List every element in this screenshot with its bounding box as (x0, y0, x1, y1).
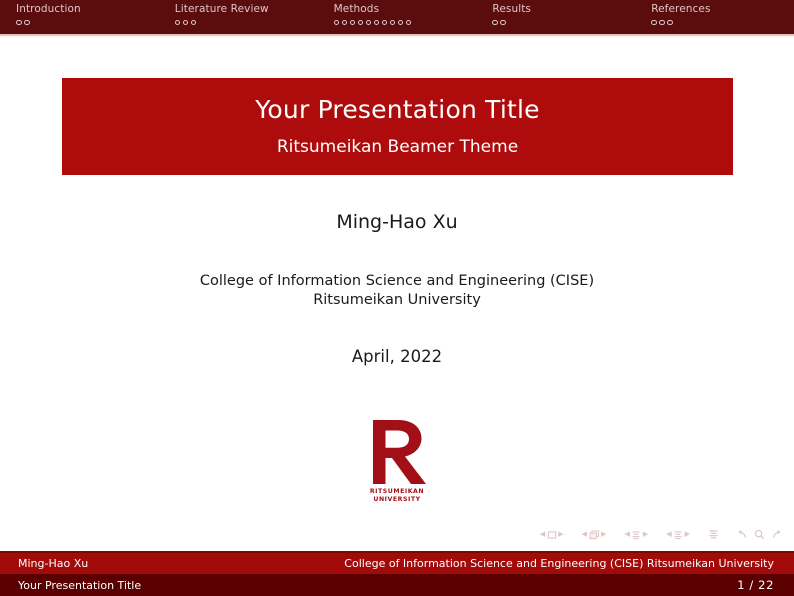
nav-slide-dot[interactable] (651, 20, 657, 26)
nav-section-methods[interactable]: Methods (318, 0, 477, 25)
nav-slide-dot[interactable] (492, 20, 498, 26)
prev-slide-arrow-icon[interactable]: ◀ (540, 531, 545, 538)
nav-section-introduction[interactable]: Introduction (0, 0, 159, 25)
nav-slide-dot[interactable] (191, 20, 197, 26)
footer-institute: College of Information Science and Engin… (344, 557, 774, 570)
slide-icon[interactable] (547, 530, 557, 540)
frame-icon[interactable] (589, 530, 600, 540)
nav-slide-dot[interactable] (358, 20, 364, 26)
nav-section-label[interactable]: Literature Review (175, 4, 318, 15)
logo-text-line-2: UNIVERSITY (370, 496, 424, 504)
nav-slide-dot[interactable] (398, 20, 404, 26)
presentation-date: April, 2022 (0, 347, 794, 366)
nav-section-label[interactable]: Methods (334, 4, 477, 15)
prev-frame-arrow-icon[interactable]: ◀ (582, 531, 587, 538)
nav-slide-dot[interactable] (175, 20, 181, 26)
next-frame-arrow-icon[interactable]: ▶ (601, 531, 606, 538)
presentation-subtitle: Ritsumeikan Beamer Theme (277, 137, 518, 157)
nav-section-literature-review[interactable]: Literature Review (159, 0, 318, 25)
nav-slide-dot[interactable] (406, 20, 412, 26)
footer-author: Ming-Hao Xu (18, 557, 88, 570)
next-subsection-arrow-icon[interactable]: ▶ (643, 531, 648, 538)
logo-text-line-1: RITSUMEIKAN (370, 488, 424, 496)
nav-section-dots-references (651, 20, 794, 26)
logo-text-block: RITSUMEIKAN UNIVERSITY (370, 488, 424, 505)
author-name: Ming-Hao Xu (0, 211, 794, 234)
next-slide-arrow-icon[interactable]: ▶ (558, 531, 563, 538)
section-icon[interactable] (673, 530, 683, 540)
nav-section-label[interactable]: Introduction (16, 4, 159, 15)
footer-title: Your Presentation Title (18, 579, 141, 592)
nav-slide-dot[interactable] (24, 20, 30, 26)
institute-line-2: Ritsumeikan University (0, 291, 794, 311)
table-of-contents-icon[interactable] (708, 529, 719, 540)
nav-slide-dot[interactable] (16, 20, 22, 26)
nav-slide-dot[interactable] (183, 20, 189, 26)
back-icon[interactable] (737, 529, 747, 540)
prev-subsection-arrow-icon[interactable]: ◀ (624, 531, 629, 538)
nav-slide-dot[interactable] (500, 20, 506, 26)
nav-section-dots-literature-review (175, 20, 318, 26)
title-page-content: Ming-Hao Xu College of Information Scien… (0, 175, 794, 366)
slide-navigation-group[interactable]: ◀ ▶ (540, 530, 564, 540)
next-section-arrow-icon[interactable]: ▶ (685, 531, 690, 538)
nav-slide-dot[interactable] (390, 20, 396, 26)
nav-slide-dot[interactable] (374, 20, 380, 26)
nav-slide-dot[interactable] (334, 20, 340, 26)
nav-section-dots-introduction (16, 20, 159, 26)
nav-section-dots-methods (334, 20, 477, 26)
ritsumeikan-logo: RITSUMEIKAN UNIVERSITY (0, 418, 794, 505)
nav-section-dots-results (492, 20, 635, 26)
section-navigation-bar: Introduction Literature Review Methods (0, 0, 794, 34)
subsection-icon[interactable] (631, 530, 641, 540)
institute-block: College of Information Science and Engin… (0, 272, 794, 311)
nav-slide-dot[interactable] (382, 20, 388, 26)
section-navigation-group[interactable]: ◀ ▶ (666, 530, 690, 540)
nav-slide-dot[interactable] (350, 20, 356, 26)
institute-line-1: College of Information Science and Engin… (0, 272, 794, 292)
nav-slide-dot[interactable] (366, 20, 372, 26)
nav-section-label[interactable]: References (651, 4, 794, 15)
footer-bar-bottom: Your Presentation Title 1 / 22 (0, 574, 794, 596)
nav-section-label[interactable]: Results (492, 4, 635, 15)
beamer-navigation-symbols[interactable]: ◀ ▶ ◀ ▶ ◀ ▶ ◀ (540, 529, 782, 540)
nav-section-references[interactable]: References (635, 0, 794, 25)
nav-section-results[interactable]: Results (476, 0, 635, 25)
prev-section-arrow-icon[interactable]: ◀ (666, 531, 671, 538)
nav-slide-dot[interactable] (342, 20, 348, 26)
forward-icon[interactable] (772, 529, 782, 540)
frame-navigation-group[interactable]: ◀ ▶ (582, 530, 607, 540)
footer-frame-number: 1 / 22 (737, 578, 774, 592)
nav-slide-dot[interactable] (667, 20, 673, 26)
header-separator-rule (0, 34, 794, 37)
ritsumeikan-r-logo-icon (367, 418, 427, 486)
footer-bar-top: Ming-Hao Xu College of Information Scien… (0, 553, 794, 574)
subsection-navigation-group[interactable]: ◀ ▶ (624, 530, 648, 540)
presentation-title: Your Presentation Title (255, 96, 539, 124)
nav-slide-dot[interactable] (659, 20, 665, 26)
title-block: Your Presentation Title Ritsumeikan Beam… (62, 78, 733, 175)
search-icon[interactable] (754, 529, 765, 540)
